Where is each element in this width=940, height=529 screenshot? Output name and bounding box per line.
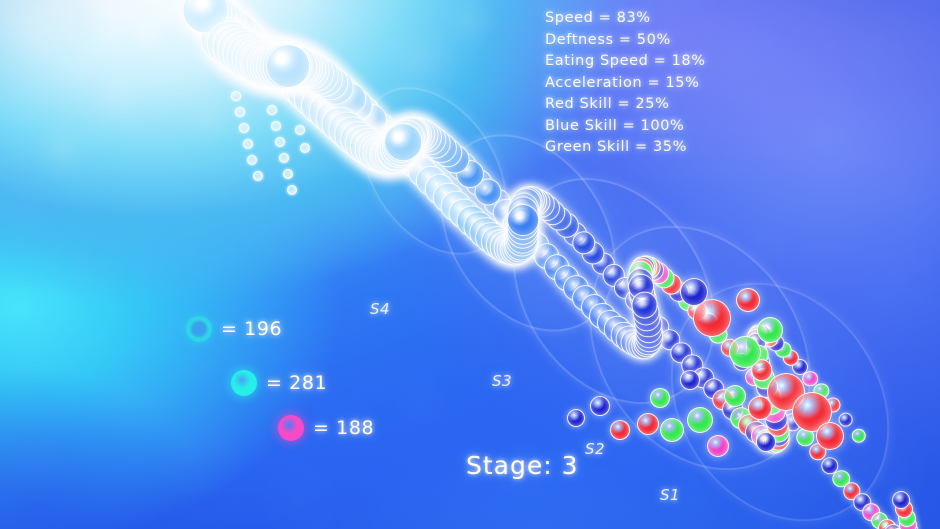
stat-green-skill: Green Skill = 35%	[545, 138, 706, 158]
helix-node	[610, 420, 630, 440]
legend-dot-magenta-icon	[278, 415, 304, 441]
helix-node	[660, 418, 684, 442]
legend-item-teal: = 196	[186, 316, 282, 342]
helix-node	[748, 396, 772, 420]
helix-node	[816, 422, 844, 450]
segment-label-s4: S4	[370, 300, 390, 318]
helix-node	[736, 288, 760, 312]
helix-node	[590, 396, 610, 416]
helix-node	[300, 143, 310, 153]
helix-node	[567, 409, 585, 427]
helix-node	[756, 432, 776, 452]
helix-node	[287, 185, 297, 195]
helix-node	[687, 407, 713, 433]
helix-node	[271, 121, 281, 131]
legend-dot-cyan-icon	[231, 370, 257, 396]
helix-node	[266, 44, 310, 88]
helix-node	[680, 370, 700, 390]
helix-node	[507, 204, 539, 236]
helix-node	[275, 137, 285, 147]
helix-node	[724, 385, 746, 407]
creature-stats-panel: Speed = 83% Deftness = 50% Eating Speed …	[545, 9, 706, 158]
helix-node	[680, 278, 708, 306]
stat-eating-speed: Eating Speed = 18%	[545, 52, 706, 72]
helix-node	[631, 292, 658, 319]
helix-node	[235, 107, 245, 117]
game-scene: Speed = 83% Deftness = 50% Eating Speed …	[0, 0, 940, 529]
helix-node	[892, 492, 910, 510]
helix-node	[637, 413, 659, 435]
helix-node	[707, 435, 729, 457]
legend-value-cyan: = 281	[266, 374, 327, 393]
helix-node	[283, 169, 293, 179]
helix-node	[295, 125, 305, 135]
helix-node	[650, 388, 670, 408]
stat-deftness: Deftness = 50%	[545, 31, 706, 51]
legend-value-teal: = 196	[221, 320, 282, 339]
helix-node	[253, 171, 263, 181]
helix-node	[231, 91, 241, 101]
segment-label-s2: S2	[585, 440, 605, 458]
segment-label-s3: S3	[492, 372, 512, 390]
helix-node	[729, 336, 761, 368]
helix-node	[267, 105, 277, 115]
legend-item-magenta: = 188	[278, 415, 374, 441]
legend-item-cyan: = 281	[231, 370, 327, 396]
helix-node	[279, 153, 289, 163]
helix-node	[247, 155, 257, 165]
dna-helix-visualization	[0, 0, 940, 529]
stage-counter: Stage: 3	[466, 452, 579, 479]
stat-speed: Speed = 83%	[545, 9, 706, 29]
helix-node	[757, 317, 783, 343]
stat-red-skill: Red Skill = 25%	[545, 95, 706, 115]
segment-label-s1: S1	[660, 486, 680, 504]
helix-node	[852, 428, 866, 442]
helix-node	[385, 123, 423, 161]
helix-node	[838, 412, 853, 427]
legend-dot-teal-icon	[186, 316, 212, 342]
stat-acceleration: Acceleration = 15%	[545, 74, 706, 94]
legend-value-magenta: = 188	[313, 419, 374, 438]
helix-node	[243, 139, 253, 149]
gene-count-legend: = 196 = 281 = 188	[186, 316, 416, 446]
stat-blue-skill: Blue Skill = 100%	[545, 117, 706, 137]
helix-node	[239, 123, 249, 133]
